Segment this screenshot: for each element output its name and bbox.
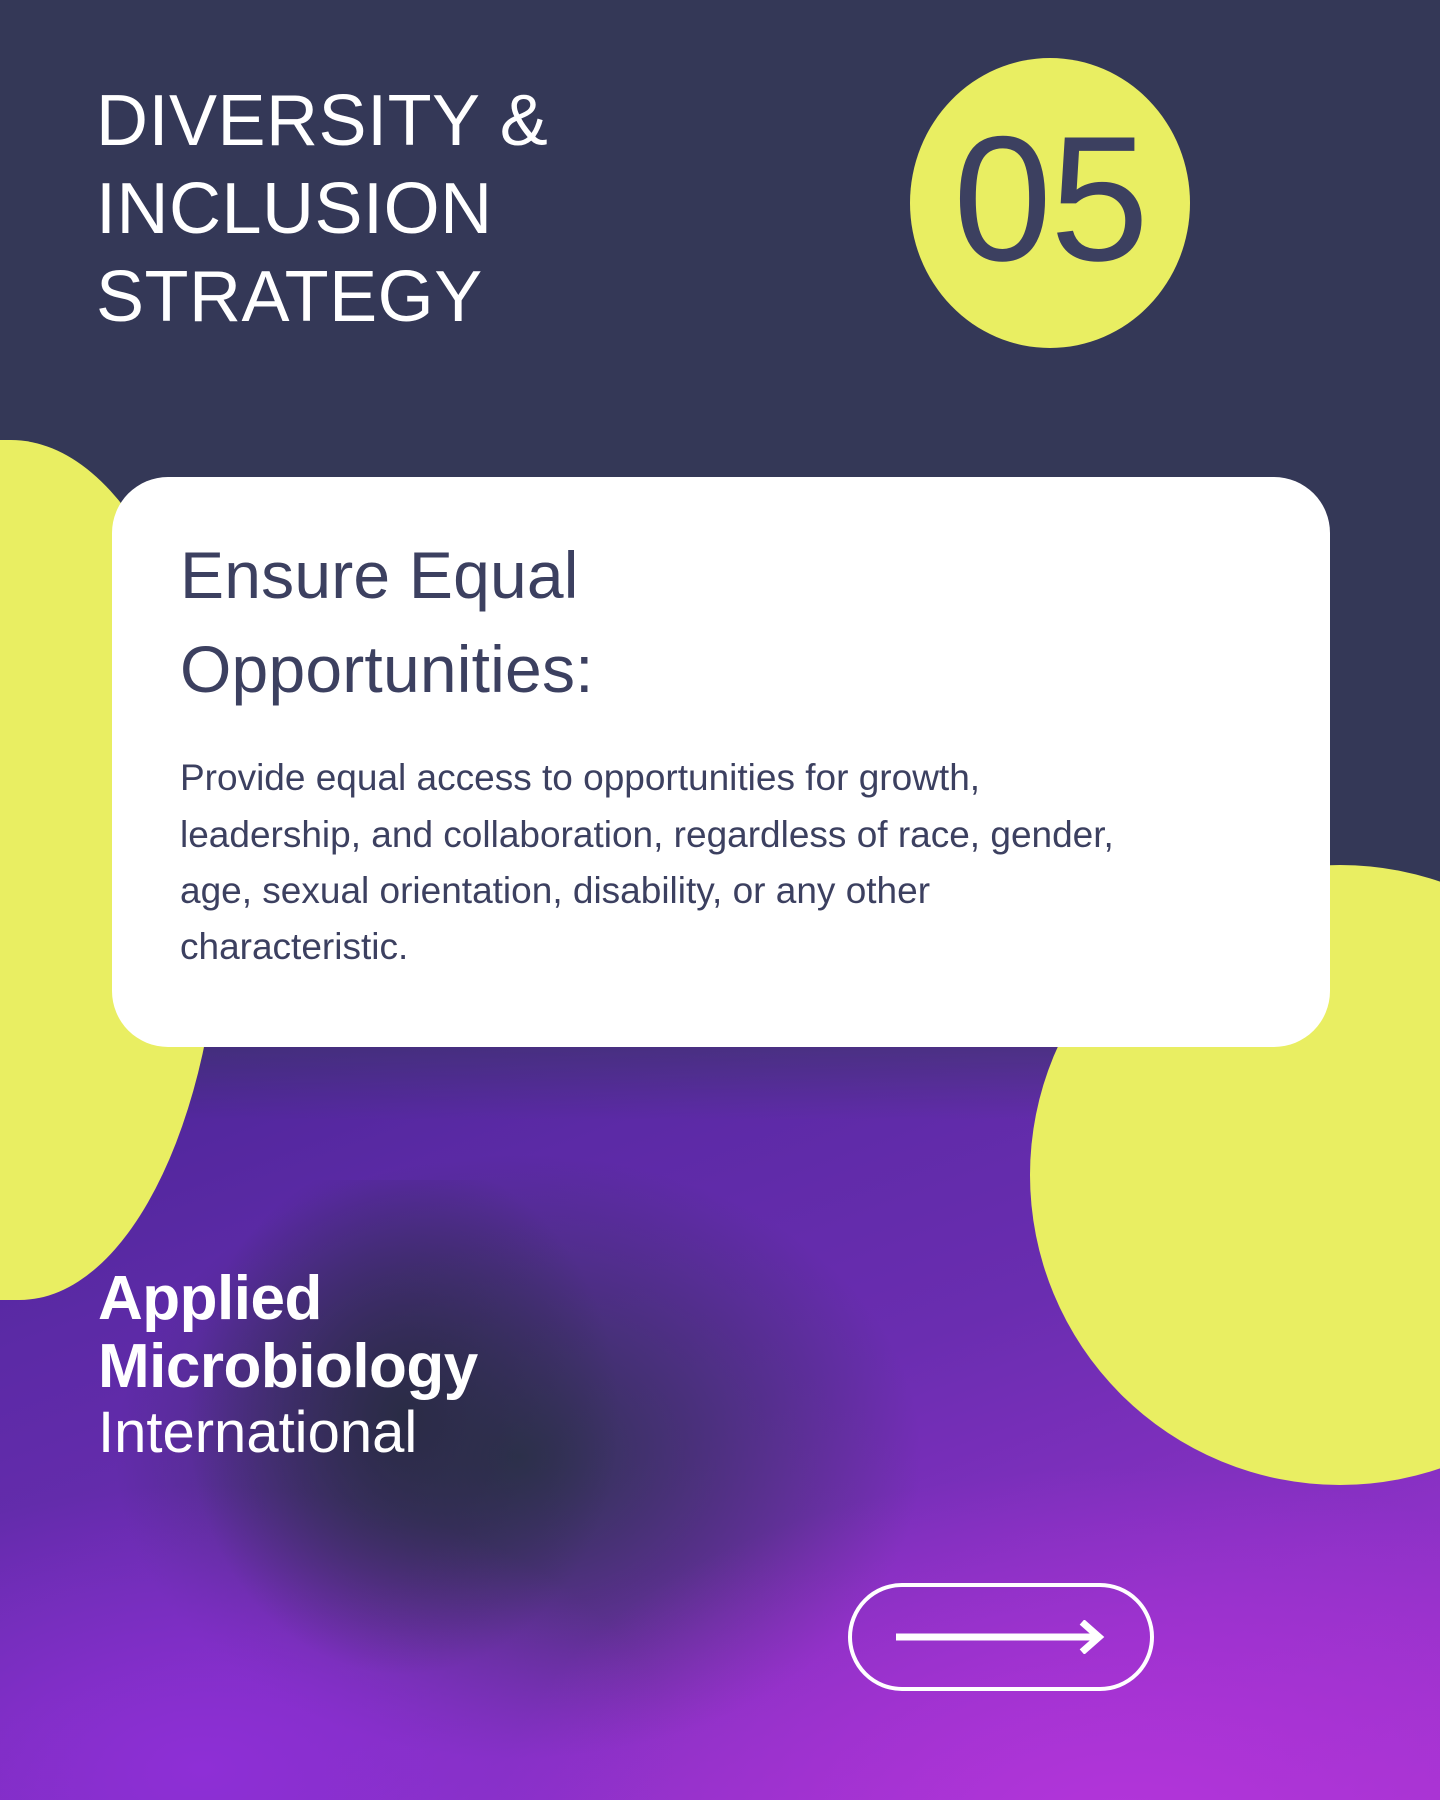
next-slide-button[interactable] — [848, 1583, 1154, 1691]
arrow-right-icon — [894, 1620, 1108, 1654]
brand-logo: Applied Microbiology International — [98, 1268, 478, 1462]
brand-logo-line-2: Microbiology — [98, 1336, 478, 1398]
card-body-text: Provide equal access to opportunities fo… — [180, 750, 1130, 975]
slide-number-badge: 05 — [910, 58, 1190, 348]
card-heading: Ensure Equal Opportunities: — [180, 529, 1268, 716]
brand-logo-line-3: International — [98, 1404, 478, 1462]
slide-root: DIVERSITY & INCLUSION STRATEGY 05 Ensure… — [0, 0, 1440, 1800]
brand-logo-line-1: Applied — [98, 1268, 478, 1330]
page-title: DIVERSITY & INCLUSION STRATEGY — [96, 78, 816, 341]
slide-number-text: 05 — [953, 110, 1147, 288]
content-card: Ensure Equal Opportunities: Provide equa… — [112, 477, 1330, 1047]
